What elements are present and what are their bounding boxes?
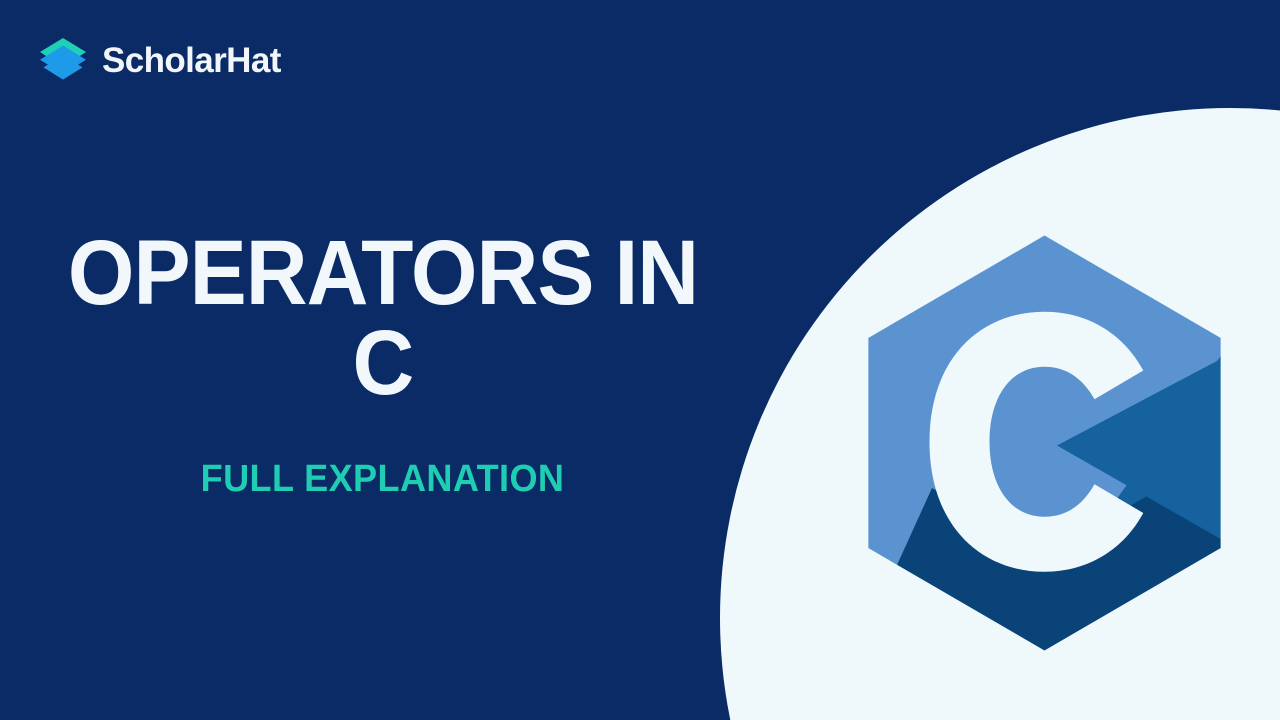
brand-name: ScholarHat xyxy=(102,43,281,78)
title-block: OPERATORS IN C FULL EXPLANATION xyxy=(0,228,765,498)
brand-logo: ScholarHat xyxy=(36,33,281,87)
slide-canvas: ScholarHat OPERATORS IN C FULL EXPLANATI… xyxy=(0,0,1280,720)
page-title: OPERATORS IN C xyxy=(48,228,718,408)
page-subtitle: FULL EXPLANATION xyxy=(19,460,746,498)
c-language-hexagon-icon xyxy=(857,233,1232,653)
stacked-layers-icon xyxy=(36,33,90,87)
